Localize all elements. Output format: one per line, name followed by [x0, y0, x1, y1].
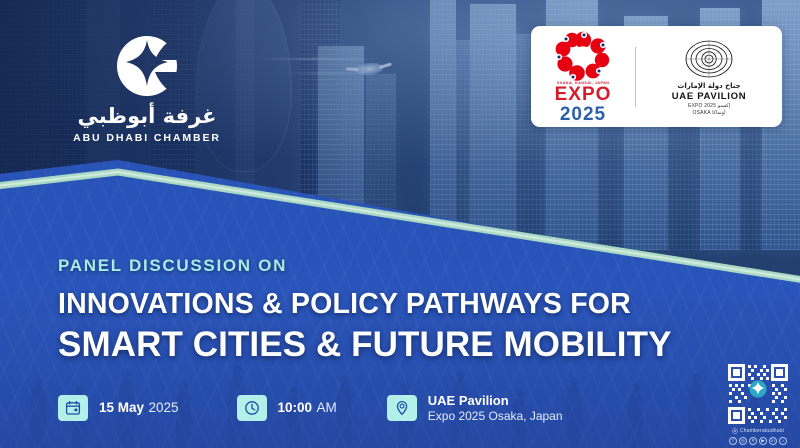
info-item-date: 15 May 2025	[58, 395, 179, 421]
title-line-2: SMART CITIES & FUTURE MOBILITY	[58, 325, 718, 365]
venue-text: UAE Pavilion Expo 2025 Osaka, Japan	[428, 393, 563, 423]
chamber-name-english: ABU DHABI CHAMBER	[72, 132, 222, 144]
pavilion-name-arabic: جناح دولة الإمارات	[677, 82, 740, 90]
clock-icon	[237, 395, 267, 421]
abu-dhabi-chamber-mark-icon	[115, 34, 179, 98]
social-handle-text: Chamberabudhabi	[740, 428, 784, 434]
location-pin-icon	[387, 395, 417, 421]
youtube-icon[interactable]: ▶	[759, 437, 767, 445]
expo-logo-block: OSAKA, KANSAI, JAPAN EXPO 2025	[531, 29, 635, 124]
tiktok-icon[interactable]: ♪	[779, 437, 787, 445]
date-text: 15 May 2025	[99, 399, 179, 418]
expo-word: EXPO	[555, 86, 612, 105]
headline-block: PANEL DISCUSSION ON INNOVATIONS & POLICY…	[58, 256, 718, 365]
uae-pavilion-block: جناح دولة الإمارات UAE PAVILION EXPO 202…	[636, 38, 782, 116]
event-info-bar: 15 May 2025 10:00 AM	[58, 393, 563, 423]
time-value: 10:00	[278, 400, 313, 415]
expo-2025-myaku-ring-icon	[555, 31, 611, 81]
date-day-month: 15 May	[99, 400, 144, 415]
qr-code-icon[interactable]	[727, 363, 789, 425]
instagram-icon[interactable]: ◎	[739, 437, 747, 445]
time-meridiem: AM	[317, 400, 337, 415]
uae-pavilion-concentric-circles-icon	[683, 38, 735, 82]
kicker-text: PANEL DISCUSSION ON	[58, 256, 718, 276]
venue-location: Expo 2025 Osaka, Japan	[428, 409, 563, 423]
time-text: 10:00 AM	[278, 399, 337, 418]
abu-dhabi-chamber-logo: غرفة أبوظبي ABU DHABI CHAMBER	[72, 34, 222, 146]
linkedin-icon[interactable]: in	[769, 437, 777, 445]
expo-2025-badge: OSAKA, KANSAI, JAPAN EXPO 2025 جنا	[531, 26, 782, 127]
qr-social-block: Chamberabudhabi f ◎ ✕ ▶ in ♪	[722, 363, 794, 445]
pavilion-subline-2: OSAKA أوساكا	[693, 110, 726, 116]
pavilion-name-english: UAE PAVILION	[672, 91, 747, 102]
social-handle: Chamberabudhabi	[722, 428, 794, 434]
chamber-name-arabic: غرفة أبوظبي	[72, 106, 222, 127]
venue-name: UAE Pavilion	[428, 393, 563, 408]
at-symbol-icon	[732, 428, 738, 434]
info-item-venue: UAE Pavilion Expo 2025 Osaka, Japan	[387, 393, 563, 423]
x-twitter-icon[interactable]: ✕	[749, 437, 757, 445]
facebook-icon[interactable]: f	[729, 437, 737, 445]
info-item-time: 10:00 AM	[237, 395, 337, 421]
pavilion-subline-1: EXPO 2025 إكسبو	[688, 103, 730, 109]
date-year: 2025	[148, 400, 178, 415]
event-banner: غرفة أبوظبي ABU DHABI CHAMBER	[0, 0, 800, 448]
expo-year: 2025	[560, 105, 606, 124]
calendar-icon	[58, 395, 88, 421]
title-line-1: INNOVATIONS & POLICY PATHWAYS FOR	[58, 288, 718, 321]
social-icons-row: f ◎ ✕ ▶ in ♪	[722, 437, 794, 445]
